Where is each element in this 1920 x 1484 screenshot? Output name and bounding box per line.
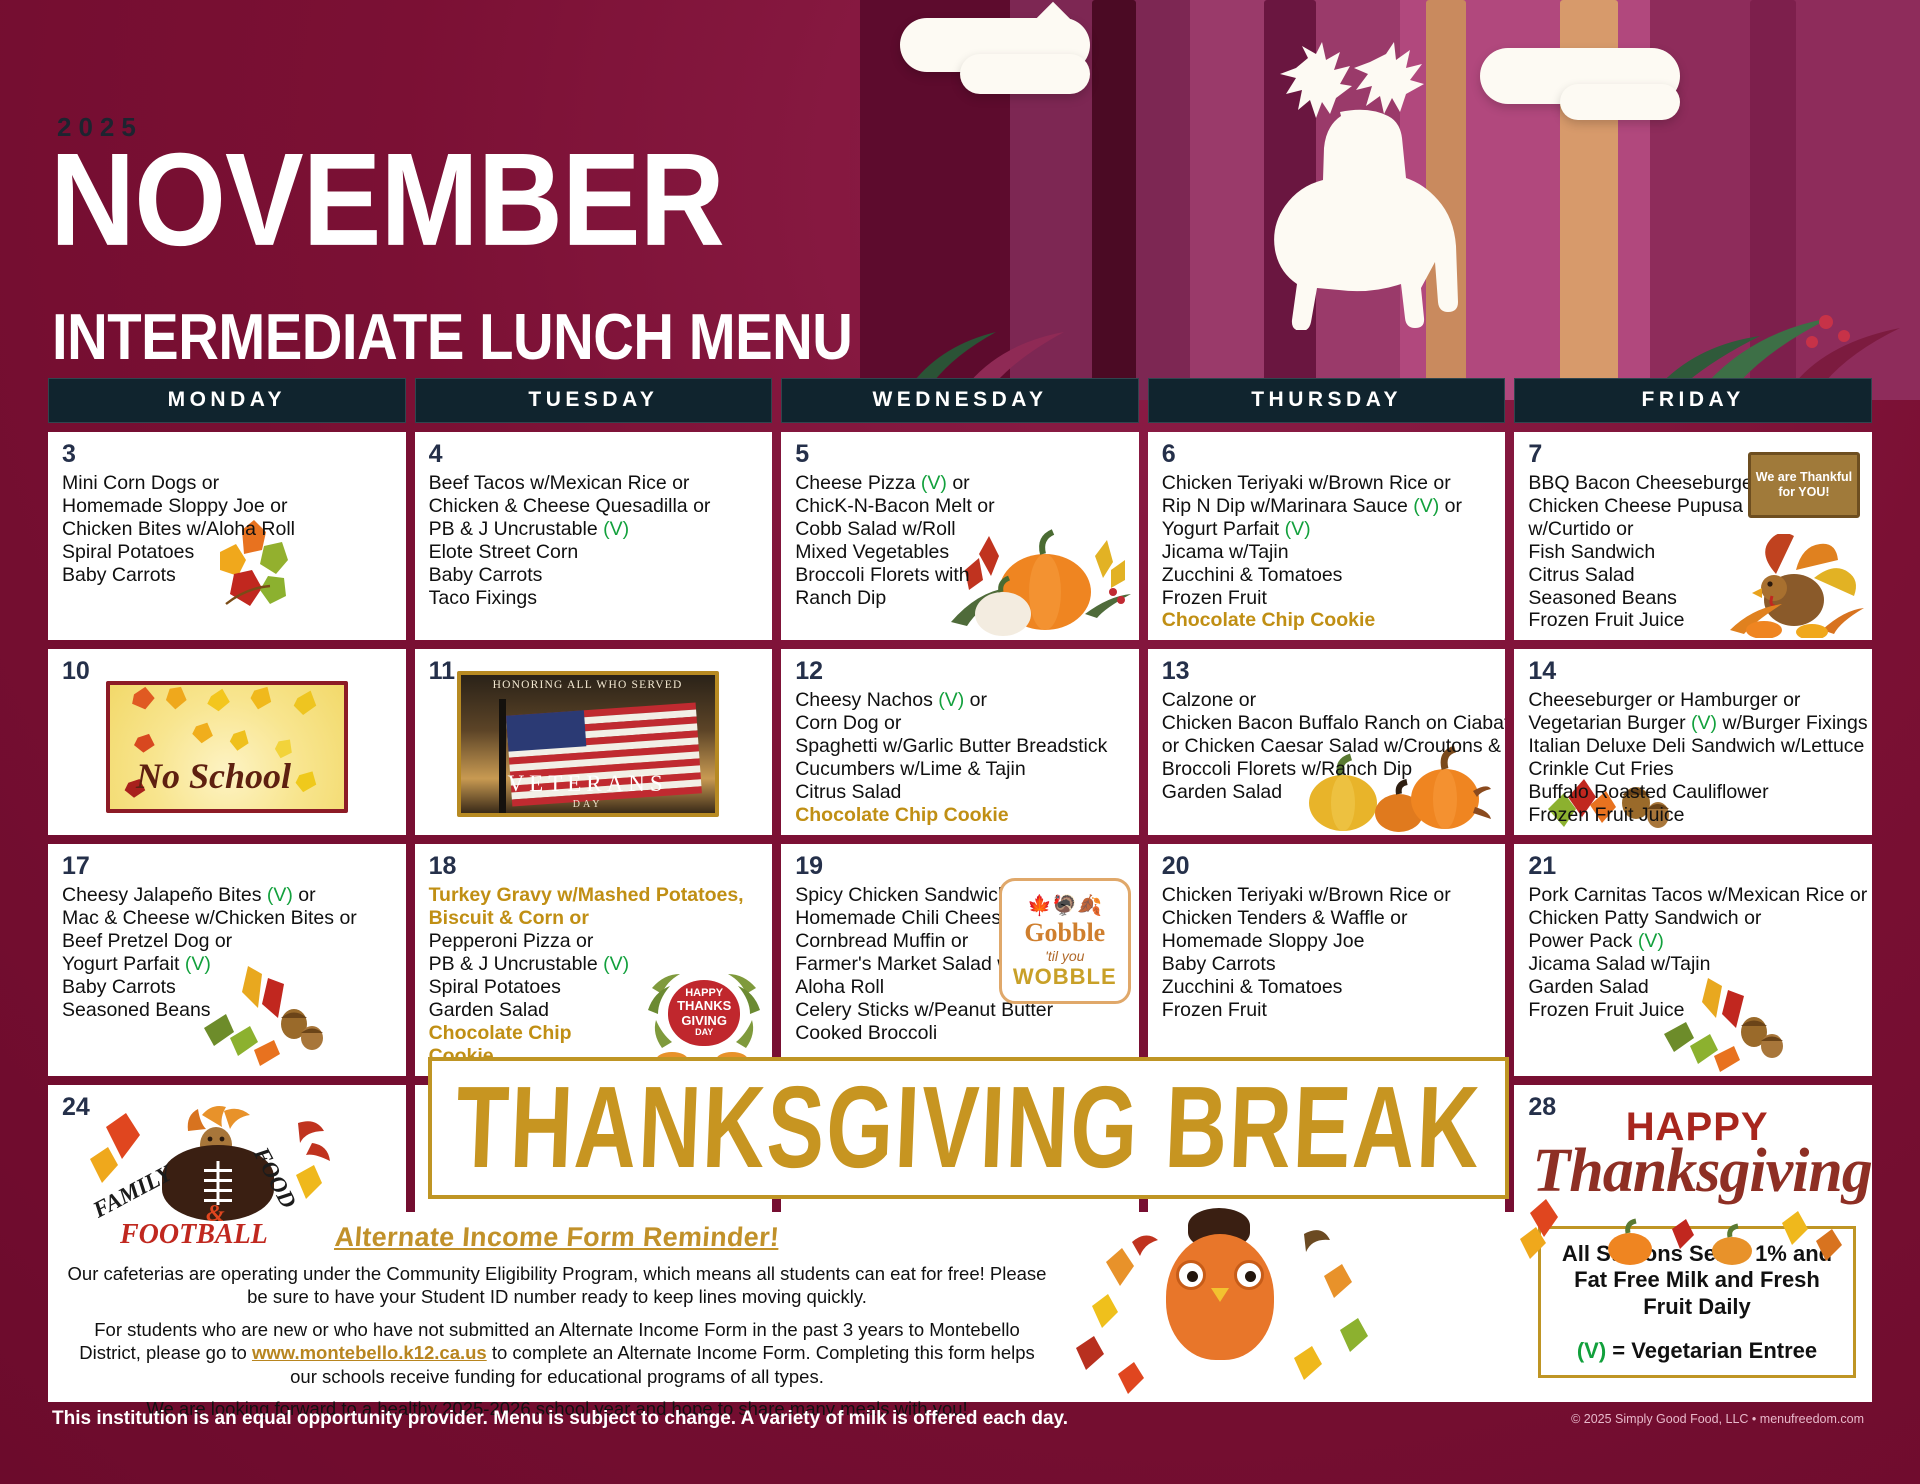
week-row-2: 10 No School bbox=[48, 649, 1872, 835]
menu-items: Calzone orChicken Bacon Buffalo Ranch on… bbox=[1162, 689, 1494, 804]
vegetarian-marker: (V) bbox=[185, 953, 211, 975]
day-cell-13[interactable]: 13 Calzone orChicken Bacon Buffalo Ranch… bbox=[1148, 649, 1506, 835]
day-cell-7[interactable]: 7 BBQ Bacon Cheeseburger orChicken Chees… bbox=[1514, 432, 1872, 640]
day-header-wednesday: WEDNESDAY bbox=[781, 378, 1139, 423]
day-cell-19[interactable]: 19 Spicy Chicken Sandwich orHomemade Chi… bbox=[781, 844, 1139, 1075]
happy-thanksgiving-day-badge: HAPPY THANKS GIVING DAY bbox=[642, 962, 766, 1070]
milk-info-text: All Stations Serve 1% and Fat Free Milk … bbox=[1549, 1241, 1845, 1320]
menu-item-line: Mini Corn Dogs or bbox=[62, 472, 394, 495]
day-cell-4[interactable]: 4 Beef Tacos w/Mexican Rice orChicken & … bbox=[415, 432, 773, 640]
no-school-card: No School bbox=[106, 681, 348, 813]
menu-item-line: Cheeseburger or Hamburger or bbox=[1528, 689, 1860, 712]
menu-item-line: Rip N Dip w/Marinara Sauce (V) or bbox=[1162, 495, 1494, 518]
day-number: 21 bbox=[1528, 854, 1860, 879]
menu-item-line: Cheesy Jalapeño Bites (V) or bbox=[62, 884, 394, 907]
day-cell-21[interactable]: 21 Pork Carnitas Tacos w/Mexican Rice or… bbox=[1514, 844, 1872, 1075]
menu-item-line: Citrus Salad bbox=[1528, 564, 1860, 587]
day-cell-5[interactable]: 5 Cheese Pizza (V) orChicK-N-Bacon Melt … bbox=[781, 432, 1139, 640]
menu-items: Chicken Teriyaki w/Brown Rice orRip N Di… bbox=[1162, 472, 1494, 632]
menu-item-line: Chicken Bites w/Aloha Roll bbox=[62, 518, 394, 541]
equal-opportunity-disclaimer: This institution is an equal opportunity… bbox=[52, 1408, 1068, 1430]
menu-item-line: Pepperoni Pizza or bbox=[429, 930, 761, 953]
day-cell-6[interactable]: 6 Chicken Teriyaki w/Brown Rice orRip N … bbox=[1148, 432, 1506, 640]
menu-item-line: Calzone or bbox=[1162, 689, 1494, 712]
menu-item-line: Homemade Sloppy Joe bbox=[1162, 930, 1494, 953]
menu-item-line: Cheesy Nachos (V) or bbox=[795, 689, 1127, 712]
gobble-line2: 'til you bbox=[1045, 948, 1084, 964]
menu-items: Chicken Teriyaki w/Brown Rice orChicken … bbox=[1162, 884, 1494, 1021]
notice-paragraph-2: For students who are new or who have not… bbox=[66, 1318, 1048, 1388]
menu-item-line: Chocolate Chip Cookie bbox=[1162, 609, 1494, 632]
menu-item-line: or Chicken Caesar Salad w/Croutons & Rol… bbox=[1162, 735, 1494, 758]
menu-item-line: Chicken Teriyaki w/Brown Rice or bbox=[1162, 472, 1494, 495]
day-cell-12[interactable]: 12 Cheesy Nachos (V) orCorn Dog orSpaghe… bbox=[781, 649, 1139, 835]
menu-item-line: Ranch Dip bbox=[795, 587, 1127, 610]
day-number: 6 bbox=[1162, 442, 1494, 467]
day-header-thursday: THURSDAY bbox=[1148, 378, 1506, 423]
menu-item-line: Jicama w/Tajin bbox=[1162, 541, 1494, 564]
vegetarian-marker: (V) bbox=[603, 518, 629, 540]
day-number: 5 bbox=[795, 442, 1127, 467]
copyright-notice: © 2025 Simply Good Food, LLC • menufreed… bbox=[1571, 1412, 1864, 1426]
day-header-row: MONDAY TUESDAY WEDNESDAY THURSDAY FRIDAY bbox=[48, 378, 1872, 423]
thanksgiving-word: Thanksgiving bbox=[1532, 1136, 1862, 1207]
menu-item-line: Crinkle Cut Fries bbox=[1528, 758, 1860, 781]
menu-item-line: Seasoned Beans bbox=[62, 999, 394, 1022]
menu-item-line: Frozen Fruit bbox=[1162, 587, 1494, 610]
vegetarian-marker: (V) bbox=[1691, 712, 1717, 734]
vegetarian-marker: (V) bbox=[603, 953, 629, 975]
tg-badge-line3: GIVING bbox=[681, 1014, 727, 1028]
paper-cut-forest-art bbox=[860, 0, 1920, 400]
day-number: 18 bbox=[429, 854, 761, 879]
menu-item-line: Baby Carrots bbox=[1162, 953, 1494, 976]
menu-item-line: Chicken Patty Sandwich or bbox=[1528, 907, 1860, 930]
veterans-day-word: DAY bbox=[461, 799, 715, 810]
menu-item-line: Chocolate Chip Cookie bbox=[795, 804, 1127, 827]
menu-item-line: Homemade Sloppy Joe or bbox=[62, 495, 394, 518]
veterans-day-card: HONORING ALL WHO SERVED bbox=[457, 671, 719, 817]
menu-item-line: Baby Carrots bbox=[62, 976, 394, 999]
day-cell-18[interactable]: 18 Turkey Gravy w/Mashed Potatoes,Biscui… bbox=[415, 844, 773, 1075]
menu-item-line: Vegetarian Burger (V) w/Burger Fixings o… bbox=[1528, 712, 1860, 735]
menu-subtitle: INTERMEDIATE LUNCH MENU bbox=[52, 305, 852, 370]
menu-item-line: Yogurt Parfait (V) bbox=[62, 953, 394, 976]
day-header-friday: FRIDAY bbox=[1514, 378, 1872, 423]
owl-illustration bbox=[1048, 1222, 1468, 1421]
menu-item-line: Chicken Bacon Buffalo Ranch on Ciabatta bbox=[1162, 712, 1494, 735]
day-number: 3 bbox=[62, 442, 394, 467]
menu-item-line: Cobb Salad w/Roll bbox=[795, 518, 1127, 541]
veg-marker: (V) bbox=[1577, 1338, 1606, 1363]
menu-item-line: Frozen Fruit bbox=[1162, 999, 1494, 1022]
menu-item-line: Frozen Fruit Juice bbox=[1528, 609, 1860, 632]
menu-item-line: Buffalo Roasted Cauliflower bbox=[1528, 781, 1860, 804]
vegetarian-marker: (V) bbox=[1413, 495, 1439, 517]
menu-item-line: Beef Tacos w/Mexican Rice or bbox=[429, 472, 761, 495]
menu-item-line: Yogurt Parfait (V) bbox=[1162, 518, 1494, 541]
menu-item-line: Biscuit & Corn or bbox=[429, 907, 761, 930]
vegetarian-marker: (V) bbox=[1285, 518, 1311, 540]
menu-items: Cheese Pizza (V) orChicK-N-Bacon Melt or… bbox=[795, 472, 1127, 609]
calendar-page: 2025 NOVEMBER INTERMEDIATE LUNCH MENU MO… bbox=[0, 0, 1920, 1484]
menu-item-line: Baby Carrots bbox=[62, 564, 394, 587]
menu-item-line: Spiral Potatoes bbox=[62, 541, 394, 564]
menu-item-line: Power Pack (V) bbox=[1528, 930, 1860, 953]
menu-items: Cheesy Jalapeño Bites (V) orMac & Cheese… bbox=[62, 884, 394, 1021]
week-row-1: 3 Mini Corn Dogs orHomemade Sloppy Joe o… bbox=[48, 432, 1872, 640]
menu-item-line: Baby Carrots bbox=[429, 564, 761, 587]
day-cell-14[interactable]: 14 Cheeseburger or Hamburger orVegetaria… bbox=[1514, 649, 1872, 835]
menu-item-line: Beef Pretzel Dog or bbox=[62, 930, 394, 953]
tg-badge-line2: THANKS bbox=[677, 999, 731, 1013]
apple-label: HAPPY THANKS GIVING DAY bbox=[668, 980, 740, 1046]
menu-item-line: Jicama Salad w/Tajin bbox=[1528, 953, 1860, 976]
foliage-icon bbox=[1630, 226, 1920, 400]
menu-item-line: Corn Dog or bbox=[795, 712, 1127, 735]
week-row-3: 17 Cheesy Jalapeño Bites (V) orMac & Che… bbox=[48, 844, 1872, 1075]
day-header-tuesday: TUESDAY bbox=[415, 378, 773, 423]
menu-item-line: Taco Fixings bbox=[429, 587, 761, 610]
day-number: 14 bbox=[1528, 659, 1860, 684]
menu-item-line: Broccoli Florets w/Ranch Dip bbox=[1162, 758, 1494, 781]
menu-item-line: Frozen Fruit Juice bbox=[1528, 999, 1860, 1022]
menu-item-line: Elote Street Corn bbox=[429, 541, 761, 564]
menu-items: Cheesy Nachos (V) orCorn Dog orSpaghetti… bbox=[795, 689, 1127, 826]
day-number: 20 bbox=[1162, 854, 1494, 879]
vegetarian-key: (V) = Vegetarian Entree bbox=[1549, 1338, 1845, 1364]
cloud-icon bbox=[1560, 84, 1680, 120]
vegetarian-marker: (V) bbox=[938, 689, 964, 711]
leaf-turkey-leaf-icons: 🍁🦃🍂 bbox=[1027, 893, 1102, 918]
menu-item-line: Pork Carnitas Tacos w/Mexican Rice or bbox=[1528, 884, 1860, 907]
deer-icon bbox=[1190, 40, 1490, 330]
veterans-honor-text: HONORING ALL WHO SERVED bbox=[461, 679, 715, 691]
thanksgiving-break-banner: THANKSGIVING BREAK bbox=[428, 1057, 1509, 1199]
day-header-monday: MONDAY bbox=[48, 378, 406, 423]
veterans-title: VETERANS bbox=[461, 771, 715, 797]
thankful-sign-text: We are Thankful for YOU! bbox=[1751, 470, 1857, 500]
vegetarian-marker: (V) bbox=[1638, 930, 1664, 952]
menu-items: Pork Carnitas Tacos w/Mexican Rice orChi… bbox=[1528, 884, 1860, 1021]
menu-item-line: Garden Salad bbox=[1528, 976, 1860, 999]
menu-item-line: Fish Sandwich bbox=[1528, 541, 1860, 564]
menu-item-line: Frozen Fruit Juice bbox=[1528, 804, 1860, 827]
day-number: 19 bbox=[795, 854, 1127, 879]
gobble-line1: Gobble bbox=[1024, 918, 1105, 948]
cloud-icon bbox=[960, 54, 1090, 94]
menu-item-line: Garden Salad bbox=[1162, 781, 1494, 804]
thanksgiving-break-text: THANKSGIVING BREAK bbox=[453, 1061, 1483, 1195]
no-school-label: No School bbox=[136, 755, 291, 797]
menu-item-line: Zucchini & Tomatoes bbox=[1162, 976, 1494, 999]
day-cell-3[interactable]: 3 Mini Corn Dogs orHomemade Sloppy Joe o… bbox=[48, 432, 406, 640]
menu-item-line: Citrus Salad bbox=[795, 781, 1127, 804]
menu-item-line: Turkey Gravy w/Mashed Potatoes, bbox=[429, 884, 761, 907]
owl-icon bbox=[1166, 1234, 1274, 1360]
month-title: NOVEMBER bbox=[50, 134, 724, 266]
menu-item-line: Broccoli Florets with bbox=[795, 564, 1127, 587]
menu-item-line: Chicken Tenders & Waffle or bbox=[1162, 907, 1494, 930]
notice-text-block: Alternate Income Form Reminder! Our cafe… bbox=[48, 1222, 1048, 1421]
notice-paragraph-1: Our cafeterias are operating under the C… bbox=[66, 1262, 1048, 1309]
menu-item-line: Zucchini & Tomatoes bbox=[1162, 564, 1494, 587]
menu-item-line: Spaghetti w/Garlic Butter Breadstick bbox=[795, 735, 1127, 758]
montebello-website-link[interactable]: www.montebello.k12.ca.us bbox=[252, 1342, 487, 1363]
menu-item-line: Chicken Teriyaki w/Brown Rice or bbox=[1162, 884, 1494, 907]
veg-label: = Vegetarian Entree bbox=[1606, 1338, 1817, 1363]
day-number: 13 bbox=[1162, 659, 1494, 684]
menu-items: Mini Corn Dogs orHomemade Sloppy Joe orC… bbox=[62, 472, 394, 587]
famfood-word-football: FOOTBALL bbox=[120, 1219, 268, 1251]
menu-item-line: Cheese Pizza (V) or bbox=[795, 472, 1127, 495]
menu-item-line: Italian Deluxe Deli Sandwich w/Lettuce bbox=[1528, 735, 1860, 758]
day-cell-17[interactable]: 17 Cheesy Jalapeño Bites (V) orMac & Che… bbox=[48, 844, 406, 1075]
menu-items: Cheeseburger or Hamburger orVegetarian B… bbox=[1528, 689, 1860, 826]
day-number: 17 bbox=[62, 854, 394, 879]
menu-item-line: Cooked Broccoli bbox=[795, 1022, 1127, 1045]
menu-item-line: PB & J Uncrustable (V) bbox=[429, 518, 761, 541]
day-cell-11[interactable]: 11 HONORING ALL WHO SERVED bbox=[415, 649, 773, 835]
day-cell-10[interactable]: 10 No School bbox=[48, 649, 406, 835]
menu-item-line: ChicK-N-Bacon Melt or bbox=[795, 495, 1127, 518]
milk-info-box: All Stations Serve 1% and Fat Free Milk … bbox=[1538, 1226, 1856, 1378]
day-number: 12 bbox=[795, 659, 1127, 684]
menu-item-line: Chicken & Cheese Quesadilla or bbox=[429, 495, 761, 518]
menu-item-line: Mac & Cheese w/Chicken Bites or bbox=[62, 907, 394, 930]
family-food-football-badge: FAMILY FOOD & FOOTBALL bbox=[88, 1101, 344, 1251]
menu-items: Beef Tacos w/Mexican Rice orChicken & Ch… bbox=[429, 472, 761, 609]
menu-item-line: Seasoned Beans bbox=[1528, 587, 1860, 610]
vegetarian-marker: (V) bbox=[267, 884, 293, 906]
menu-item-line: w/Curtido or bbox=[1528, 518, 1860, 541]
vegetarian-marker: (V) bbox=[921, 472, 947, 494]
thankful-sign-badge: We are Thankful for YOU! bbox=[1748, 452, 1860, 518]
menu-item-line: Cucumbers w/Lime & Tajin bbox=[795, 758, 1127, 781]
happy-thanksgiving-script-badge: HAPPY Thanksgiving bbox=[1532, 1105, 1862, 1207]
menu-item-line: Mixed Vegetables bbox=[795, 541, 1127, 564]
gobble-line3: WOBBLE bbox=[1013, 964, 1117, 990]
gobble-til-you-wobble-badge: 🍁🦃🍂 Gobble 'til you WOBBLE bbox=[999, 878, 1131, 1004]
tg-badge-line4: DAY bbox=[695, 1028, 713, 1038]
day-number: 4 bbox=[429, 442, 761, 467]
